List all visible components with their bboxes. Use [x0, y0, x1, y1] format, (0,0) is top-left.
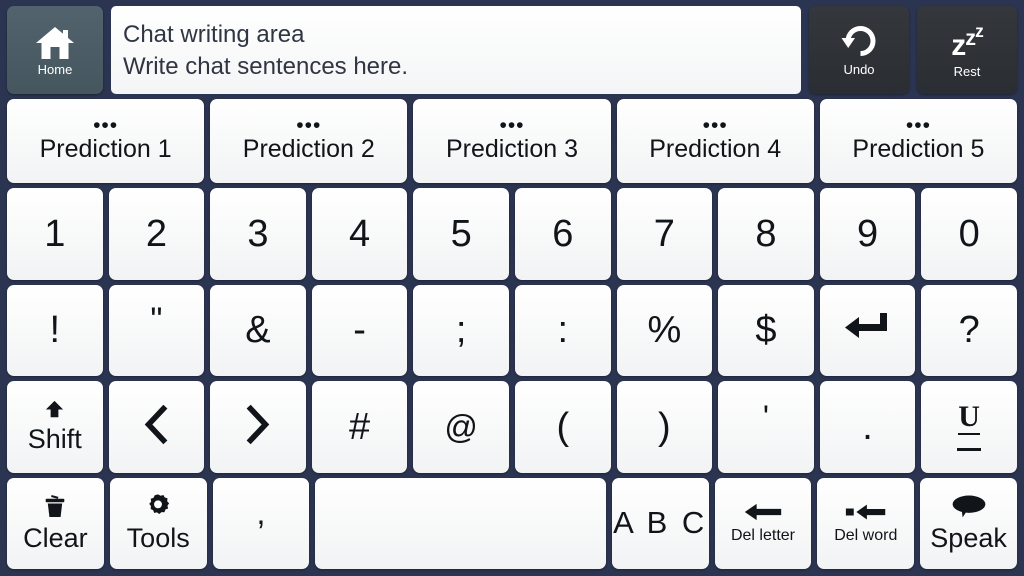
- key-ampersand[interactable]: &: [210, 285, 306, 377]
- key-shift[interactable]: Shift: [7, 381, 103, 473]
- key-apostrophe[interactable]: ': [718, 381, 814, 473]
- home-icon: [34, 25, 76, 61]
- prediction-label: Prediction 3: [446, 137, 578, 162]
- key-label: ?: [959, 311, 980, 349]
- prediction-label: Prediction 5: [852, 137, 984, 162]
- key-label: #: [349, 408, 370, 446]
- key-label: ,: [257, 497, 266, 529]
- key-paren-open[interactable]: (: [515, 381, 611, 473]
- undo-arrow-icon: [839, 24, 879, 60]
- key-colon[interactable]: :: [515, 285, 611, 377]
- key-speak[interactable]: Speak: [920, 478, 1017, 570]
- key-label: ): [658, 408, 671, 446]
- key-label: A B C: [613, 505, 707, 541]
- key-label: $: [755, 311, 776, 349]
- key-space[interactable]: [315, 478, 605, 570]
- key-period[interactable]: .: [820, 381, 916, 473]
- key-label: 3: [247, 215, 268, 253]
- prediction-label: Prediction 2: [243, 137, 375, 162]
- punctuation-row: ! " & - ; : % $ ?: [7, 285, 1017, 377]
- key-label: Clear: [23, 524, 88, 552]
- more-dots-icon: •••: [93, 120, 118, 133]
- key-label: 8: [755, 215, 776, 253]
- key-label: ": [150, 303, 162, 337]
- digit-row: 1 2 3 4 5 6 7 8 9 0: [7, 188, 1017, 280]
- aac-keyboard-app: Home Chat writing area Write chat senten…: [0, 0, 1024, 576]
- prediction-cell-5[interactable]: ••• Prediction 5: [820, 99, 1017, 183]
- key-paren-close[interactable]: ): [617, 381, 713, 473]
- home-button[interactable]: Home: [7, 6, 103, 94]
- arrow-right-icon: [244, 404, 272, 450]
- enter-arrow-icon: [843, 311, 893, 350]
- key-label: ': [763, 401, 769, 433]
- key-underline[interactable]: U: [921, 381, 1017, 473]
- key-label: Del letter: [731, 528, 795, 545]
- key-digit-0[interactable]: 0: [921, 188, 1017, 280]
- chat-writing-area[interactable]: Chat writing area Write chat sentences h…: [111, 6, 801, 94]
- key-label: @: [444, 410, 478, 443]
- key-delete-word[interactable]: Del word: [817, 478, 914, 570]
- key-label: 6: [552, 215, 573, 253]
- gear-icon: [146, 494, 170, 523]
- key-digit-9[interactable]: 9: [820, 188, 916, 280]
- arrow-left-icon: [743, 502, 783, 527]
- arrow-up-icon: [44, 400, 65, 424]
- chat-placeholder-line: Write chat sentences here.: [123, 51, 789, 83]
- key-label: 7: [654, 215, 675, 253]
- underscore-icon: [957, 448, 981, 451]
- rest-label: Rest: [954, 65, 981, 78]
- prediction-cell-3[interactable]: ••• Prediction 3: [413, 99, 610, 183]
- undo-label: Undo: [843, 63, 874, 76]
- key-dollar[interactable]: $: [718, 285, 814, 377]
- key-at[interactable]: @: [413, 381, 509, 473]
- key-label: ;: [456, 311, 467, 349]
- key-tools[interactable]: Tools: [110, 478, 207, 570]
- key-delete-letter[interactable]: Del letter: [715, 478, 812, 570]
- key-label: -: [353, 311, 366, 349]
- more-dots-icon: •••: [703, 120, 728, 133]
- key-label: Speak: [930, 524, 1007, 552]
- key-question[interactable]: ?: [921, 285, 1017, 377]
- arrow-left-icon: [142, 404, 170, 450]
- speech-bubble-icon: [949, 494, 989, 523]
- key-label: .: [862, 408, 873, 446]
- key-digit-4[interactable]: 4: [312, 188, 408, 280]
- prediction-row: ••• Prediction 1 ••• Prediction 2 ••• Pr…: [7, 99, 1017, 183]
- key-comma[interactable]: ,: [213, 478, 310, 570]
- key-enter[interactable]: [820, 285, 916, 377]
- key-label: 1: [44, 215, 65, 253]
- delete-word-icon: [845, 502, 887, 527]
- trash-icon: [44, 494, 66, 523]
- key-label: Tools: [127, 524, 190, 552]
- key-digit-7[interactable]: 7: [617, 188, 713, 280]
- key-label: Shift: [28, 425, 82, 453]
- action-row: Clear Tools , A B C: [7, 478, 1017, 570]
- key-double-quote[interactable]: ": [109, 285, 205, 377]
- prediction-label: Prediction 1: [40, 137, 172, 162]
- key-label: 4: [349, 215, 370, 253]
- key-digit-2[interactable]: 2: [109, 188, 205, 280]
- key-digit-3[interactable]: 3: [210, 188, 306, 280]
- key-label: U: [958, 402, 980, 435]
- key-abc[interactable]: A B C: [612, 478, 709, 570]
- key-arrow-left[interactable]: [109, 381, 205, 473]
- key-percent[interactable]: %: [617, 285, 713, 377]
- sleep-zzz-icon: zzz: [951, 22, 982, 61]
- key-digit-1[interactable]: 1: [7, 188, 103, 280]
- undo-button[interactable]: Undo: [809, 6, 909, 94]
- key-label: Del word: [834, 528, 897, 545]
- key-label: (: [556, 408, 569, 446]
- key-semicolon[interactable]: ;: [413, 285, 509, 377]
- key-exclamation[interactable]: !: [7, 285, 103, 377]
- key-hash[interactable]: #: [312, 381, 408, 473]
- key-label: :: [557, 311, 568, 349]
- key-label: %: [647, 311, 681, 349]
- key-label: !: [50, 311, 61, 349]
- home-label: Home: [38, 63, 73, 76]
- more-dots-icon: •••: [296, 120, 321, 133]
- prediction-cell-1[interactable]: ••• Prediction 1: [7, 99, 204, 183]
- key-label: 0: [959, 215, 980, 253]
- key-digit-6[interactable]: 6: [515, 188, 611, 280]
- more-dots-icon: •••: [499, 120, 524, 133]
- prediction-cell-2[interactable]: ••• Prediction 2: [210, 99, 407, 183]
- key-label: &: [245, 311, 270, 349]
- prediction-label: Prediction 4: [649, 137, 781, 162]
- chat-title-line: Chat writing area: [123, 19, 789, 51]
- more-dots-icon: •••: [906, 120, 931, 133]
- key-arrow-right[interactable]: [210, 381, 306, 473]
- key-digit-8[interactable]: 8: [718, 188, 814, 280]
- key-label: 2: [146, 215, 167, 253]
- key-hyphen[interactable]: -: [312, 285, 408, 377]
- prediction-cell-4[interactable]: ••• Prediction 4: [617, 99, 814, 183]
- symbol-row: Shift # @ ( ) ' . U: [7, 381, 1017, 473]
- key-label: 9: [857, 215, 878, 253]
- rest-button[interactable]: zzz Rest: [917, 6, 1017, 94]
- key-label: 5: [451, 215, 472, 253]
- header-bar: Home Chat writing area Write chat senten…: [7, 6, 1017, 94]
- key-clear[interactable]: Clear: [7, 478, 104, 570]
- key-digit-5[interactable]: 5: [413, 188, 509, 280]
